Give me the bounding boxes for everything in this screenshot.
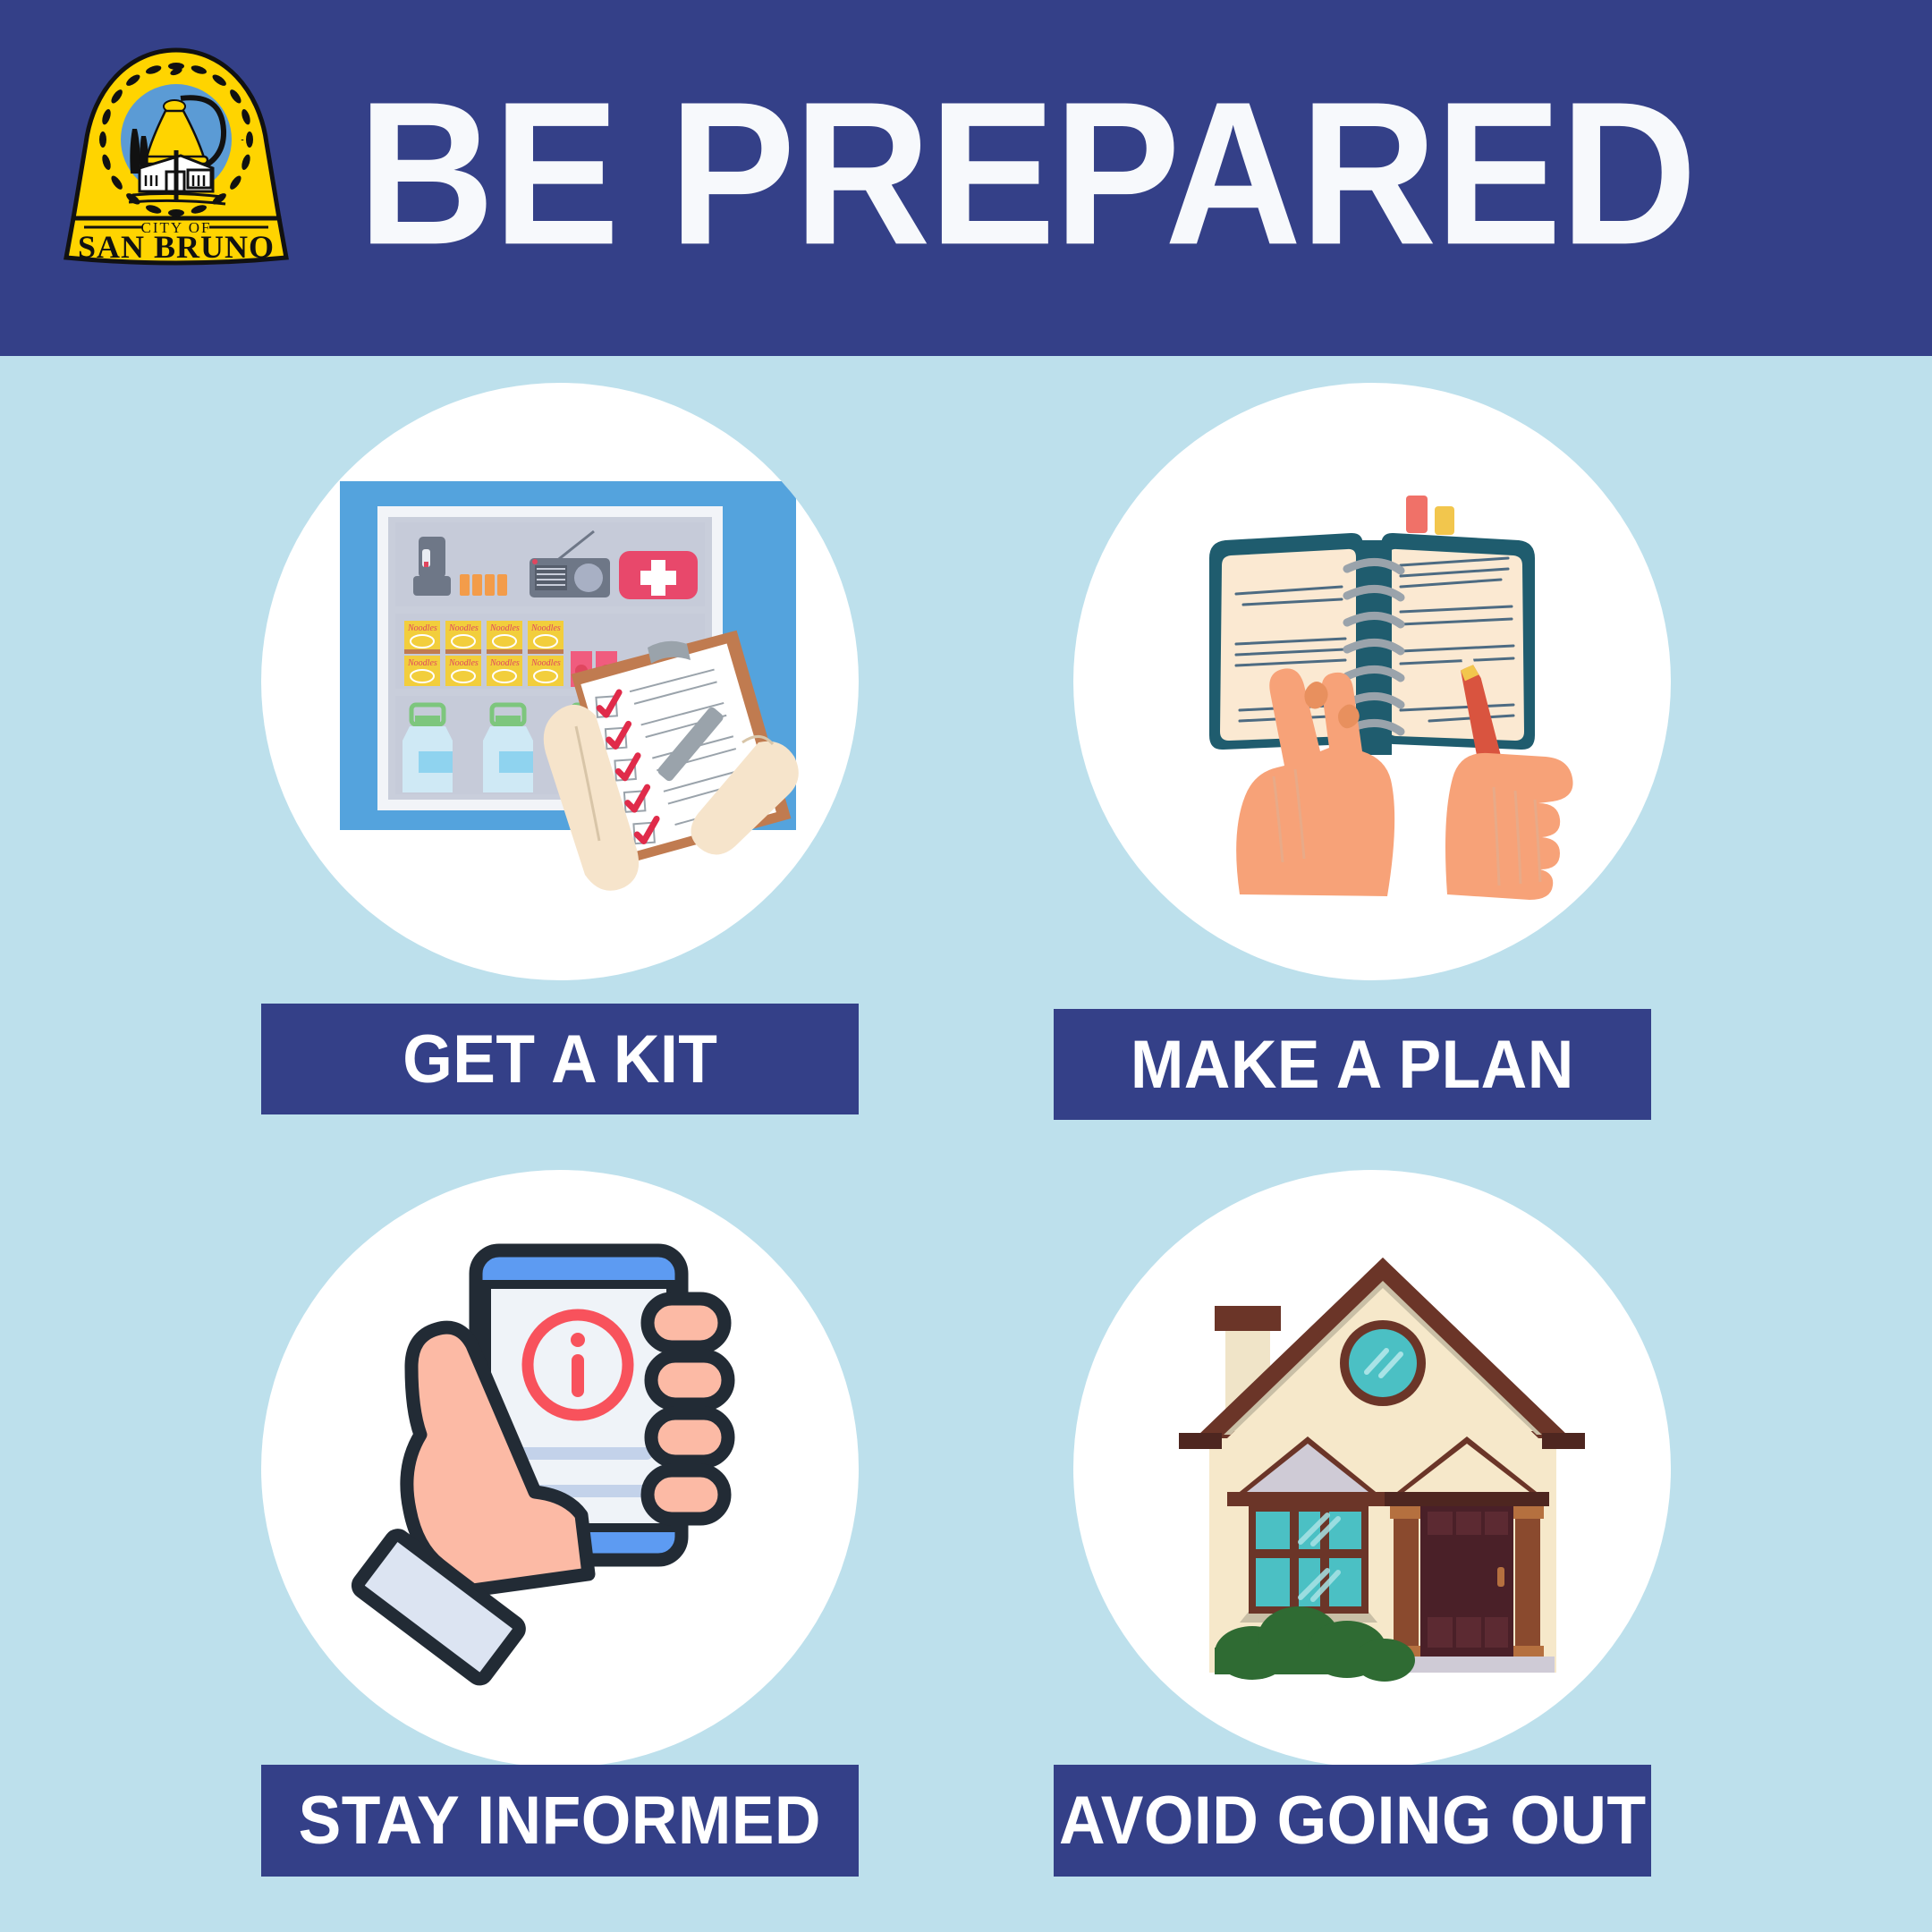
info-glyph (572, 1354, 584, 1397)
house-icon (1073, 1170, 1671, 1767)
page-title: BE PREPARED (358, 77, 1796, 271)
svg-text:Noodles: Noodles (448, 658, 479, 668)
banner-label-make-a-plan: MAKE A PLAN (1131, 1026, 1574, 1104)
hand-holding-phone-icon (261, 1170, 859, 1767)
open-notebook-icon (1073, 383, 1671, 980)
svg-text:Noodles: Noodles (489, 623, 520, 633)
banner-label-get-a-kit: GET A KIT (402, 1021, 717, 1098)
banner-stay-informed[interactable]: STAY INFORMED (261, 1765, 859, 1877)
svg-text:Noodles: Noodles (530, 623, 561, 633)
phone-text-line (510, 1447, 653, 1460)
page-title-text: BE PREPARED (358, 77, 1696, 271)
emergency-supply-kit-icon: NoodlesNoodles NoodlesNoodles NoodlesNoo… (261, 383, 859, 980)
svg-text:Noodles: Noodles (407, 658, 437, 668)
icon-circle-stay-informed (261, 1170, 859, 1767)
banner-label-avoid-going-out: AVOID GOING OUT (1059, 1782, 1647, 1860)
banner-make-a-plan[interactable]: MAKE A PLAN (1054, 1009, 1651, 1120)
seal-san-bruno-text: SAN BRUNO (78, 229, 275, 265)
icon-circle-get-a-kit: NoodlesNoodles NoodlesNoodles NoodlesNoo… (261, 383, 859, 980)
svg-text:Noodles: Noodles (530, 658, 561, 668)
svg-text:Noodles: Noodles (448, 623, 479, 633)
icon-circle-make-a-plan (1073, 383, 1671, 980)
city-of-san-bruno-seal-icon: CITY OF SAN BRUNO (47, 43, 306, 267)
page-header: CITY OF SAN BRUNO BE PREPARED (0, 0, 1932, 356)
icon-circle-avoid-going-out (1073, 1170, 1671, 1767)
city-seal: CITY OF SAN BRUNO (47, 43, 306, 267)
svg-text:Noodles: Noodles (407, 623, 437, 633)
banner-avoid-going-out[interactable]: AVOID GOING OUT (1054, 1765, 1651, 1877)
banner-get-a-kit[interactable]: GET A KIT (261, 1004, 859, 1114)
banner-label-stay-informed: STAY INFORMED (299, 1782, 821, 1860)
svg-text:Noodles: Noodles (489, 658, 520, 668)
